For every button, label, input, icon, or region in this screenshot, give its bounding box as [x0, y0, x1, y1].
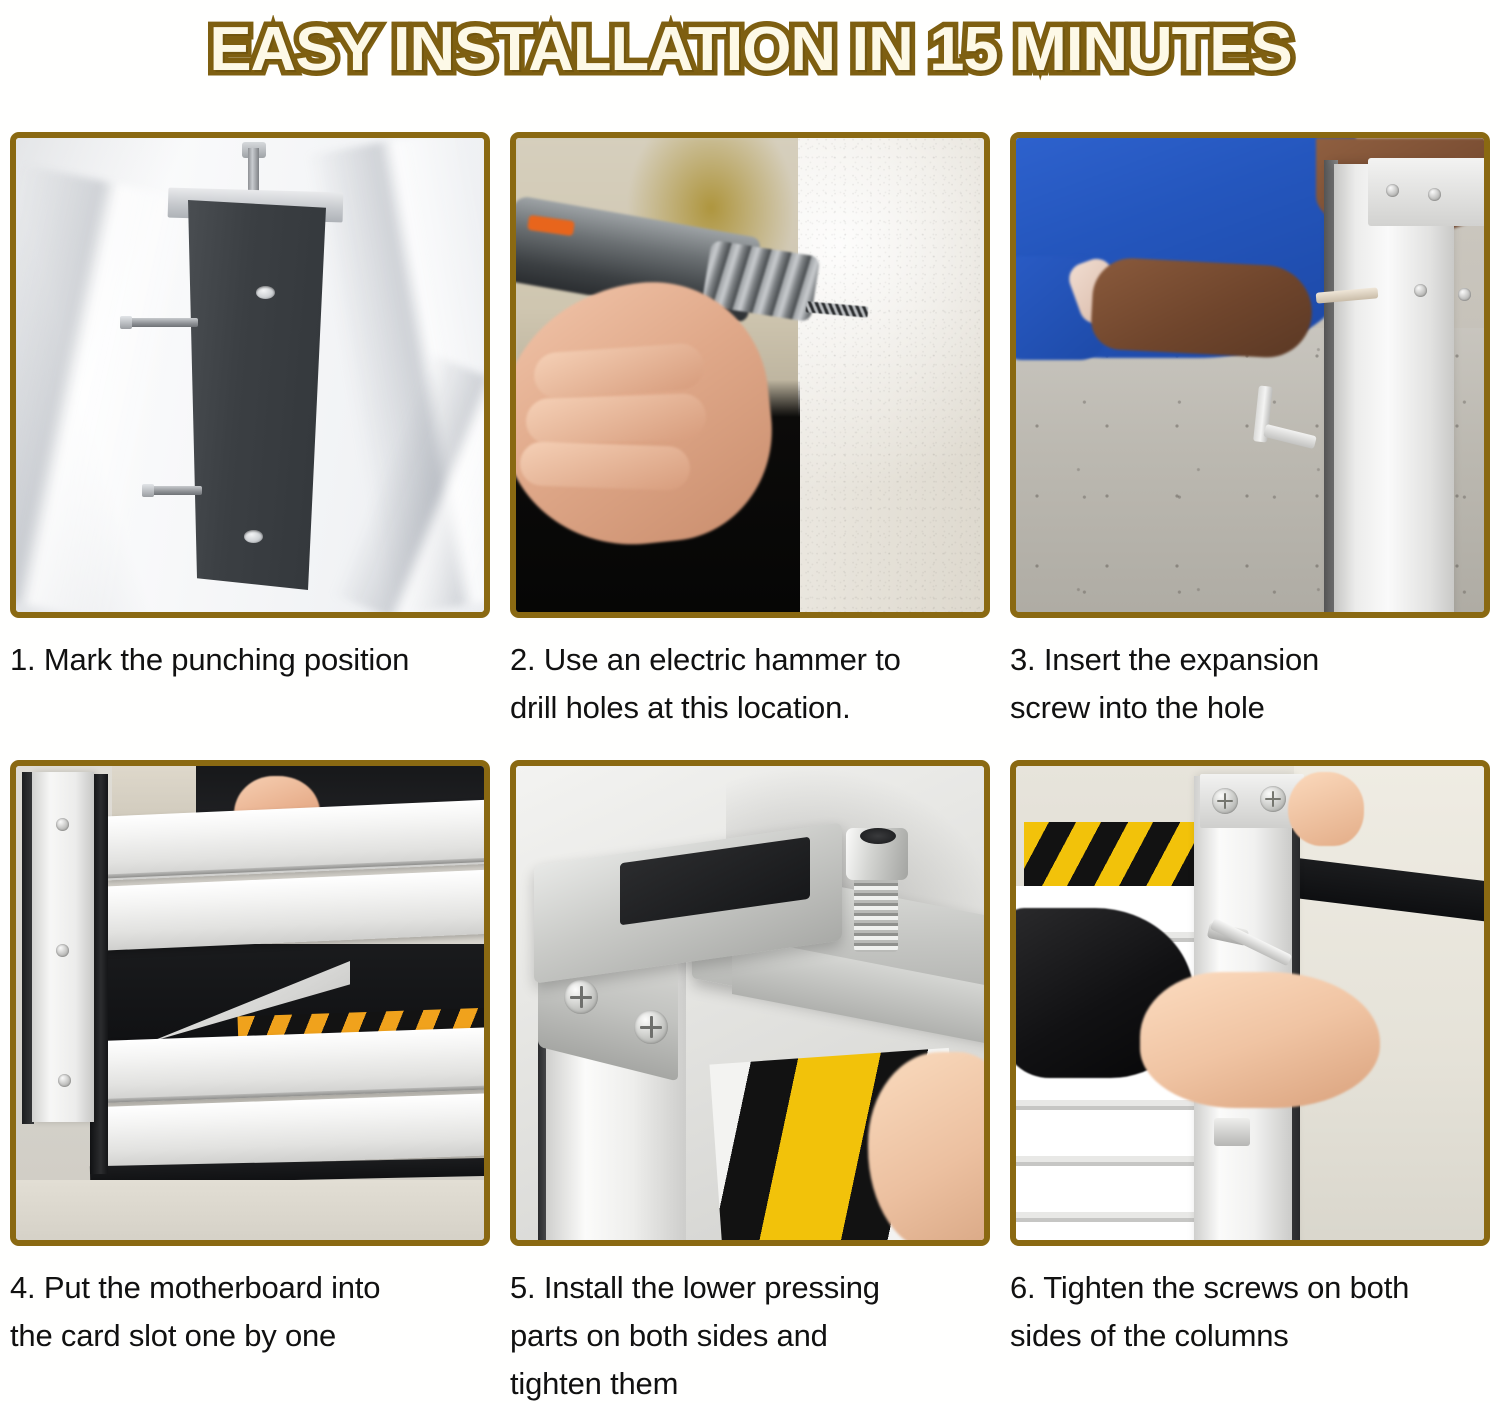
- step-card-5: 5. Install the lower pressing parts on b…: [500, 760, 1000, 1403]
- screw-icon: [1458, 288, 1471, 301]
- step-caption-5: 5. Install the lower pressing parts on b…: [510, 1264, 1000, 1403]
- caption-line: 2. Use an electric hammer to: [510, 636, 1000, 684]
- step-image-frame-5: [510, 760, 990, 1246]
- steps-row-top: 1. Mark the punching position: [0, 132, 1500, 732]
- screw-icon: [1428, 188, 1441, 201]
- step-card-4: 4. Put the motherboard into the card slo…: [0, 760, 500, 1403]
- barrier-board: [103, 1093, 484, 1169]
- phillips-screw-left-icon: [1212, 788, 1238, 814]
- hazard-stripe: [1024, 822, 1196, 886]
- screw-icon: [1386, 184, 1399, 197]
- phillips-screw-left-icon: [564, 980, 598, 1014]
- finger: [525, 393, 706, 445]
- step-card-6: 6. Tighten the screws on both sides of t…: [1000, 760, 1500, 1403]
- screw-icon: [1414, 284, 1427, 297]
- caption-line: 3. Insert the expansion: [1010, 636, 1500, 684]
- page-title: EASY INSTALLATION IN 15 MINUTES: [209, 17, 1291, 83]
- caption-line: sides of the columns: [1010, 1312, 1500, 1360]
- upper-hand: [1288, 772, 1364, 846]
- step-image-1: [16, 138, 484, 612]
- step-card-3: 3. Insert the expansion screw into the h…: [1000, 132, 1500, 732]
- phillips-screw-right-icon: [1260, 786, 1286, 812]
- step-caption-3: 3. Insert the expansion screw into the h…: [1010, 636, 1500, 732]
- phillips-screw-right-icon: [634, 1010, 668, 1044]
- screw-icon: [56, 944, 69, 957]
- finger: [519, 441, 690, 491]
- step-image-frame-4: [10, 760, 490, 1246]
- step-caption-6: 6. Tighten the screws on both sides of t…: [1010, 1264, 1500, 1360]
- worker-hand: [1090, 256, 1315, 359]
- caption-line: 5. Install the lower pressing: [510, 1264, 1000, 1312]
- bolt-hex-hole-icon: [860, 828, 896, 844]
- caption-line: the card slot one by one: [10, 1312, 500, 1360]
- step-image-frame-1: [10, 132, 490, 618]
- steps-grid: 1. Mark the punching position: [0, 100, 1500, 1403]
- steps-row-bottom: 4. Put the motherboard into the card slo…: [0, 760, 1500, 1403]
- header-banner: EASY INSTALLATION IN 15 MINUTES: [0, 0, 1500, 100]
- step-caption-1: 1. Mark the punching position: [10, 636, 500, 684]
- step-image-frame-2: [510, 132, 990, 618]
- pin-tip-icon: [142, 484, 154, 497]
- step-image-6: [1016, 766, 1484, 1240]
- caption-line: drill holes at this location.: [510, 684, 1000, 732]
- pin-tip-icon: [120, 316, 132, 329]
- step-image-3: [1016, 138, 1484, 612]
- white-wall: [798, 138, 984, 612]
- step-caption-2: 2. Use an electric hammer to drill holes…: [510, 636, 1000, 732]
- step-image-2: [516, 138, 984, 612]
- bolt-shaft-icon: [248, 148, 259, 196]
- locating-pin-upper-icon: [126, 318, 198, 327]
- locating-pin-lower-icon: [148, 486, 202, 495]
- caption-line: 1. Mark the punching position: [10, 636, 500, 684]
- white-column: [1334, 164, 1454, 612]
- step-image-frame-6: [1010, 760, 1490, 1246]
- mark-hole-upper-icon: [256, 286, 275, 299]
- caption-line: 6. Tighten the screws on both: [1010, 1264, 1500, 1312]
- caption-line: parts on both sides and: [510, 1312, 1000, 1360]
- lower-latch-icon: [1214, 1118, 1250, 1146]
- installation-guide-page: EASY INSTALLATION IN 15 MINUTES: [0, 0, 1500, 1403]
- hand: [1140, 972, 1380, 1108]
- screw-icon: [56, 818, 69, 831]
- step-card-2: 2. Use an electric hammer to drill holes…: [500, 132, 1000, 732]
- step-image-4: [16, 766, 484, 1240]
- step-image-frame-3: [1010, 132, 1490, 618]
- step-image-5: [516, 766, 984, 1240]
- step-caption-4: 4. Put the motherboard into the card slo…: [10, 1264, 500, 1360]
- caption-line: tighten them: [510, 1360, 1000, 1403]
- caption-line: 4. Put the motherboard into: [10, 1264, 500, 1312]
- mark-hole-lower-icon: [244, 530, 263, 543]
- screw-icon: [58, 1074, 71, 1087]
- step-card-1: 1. Mark the punching position: [0, 132, 500, 732]
- floor: [16, 1180, 484, 1240]
- caption-line: screw into the hole: [1010, 684, 1500, 732]
